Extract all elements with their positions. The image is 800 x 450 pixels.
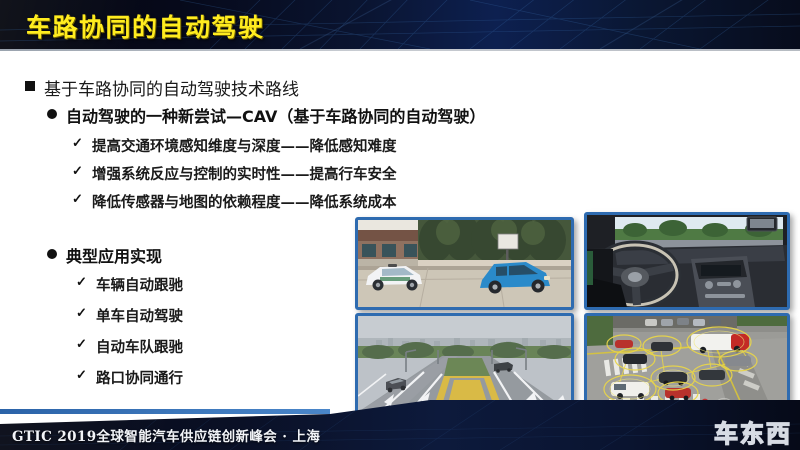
outline-level1-item: 基于车路协同的自动驾驶技术路线	[25, 75, 299, 100]
outline-level3-label: 路口协同通行	[96, 367, 183, 388]
outline-level1-label: 基于车路协同的自动驾驶技术路线	[44, 75, 299, 100]
outline-level2-label: 自动驾驶的一种新尝试—CAV（基于车路协同的自动驾驶）	[66, 103, 485, 127]
photo-intersection-v2x	[584, 313, 790, 415]
outline-level3-item: ✓ 自动车队跟驰	[76, 336, 183, 357]
circle-bullet-icon	[47, 249, 57, 259]
outline-level2-item-cav: 自动驾驶的一种新尝试—CAV（基于车路协同的自动驾驶）	[47, 103, 485, 127]
check-bullet-icon: ✓	[76, 306, 88, 321]
slide-root: 车路协同的自动驾驶 基于车路协同的自动驾驶技术路线 自动驾驶的一种新尝试—CAV…	[0, 0, 800, 450]
check-bullet-icon: ✓	[76, 275, 88, 290]
photo-car-interior-dashboard	[584, 212, 790, 310]
outline-level3-item: ✓ 车辆自动跟驰	[76, 274, 183, 295]
outline-level3-label: 单车自动驾驶	[96, 305, 183, 326]
circle-bullet-icon	[47, 109, 57, 119]
check-bullet-icon: ✓	[72, 164, 84, 179]
outline-level3-item: ✓ 增强系统反应与控制的实时性——提高行车安全	[72, 163, 397, 184]
outline-level3-item: ✓ 单车自动驾驶	[76, 305, 183, 326]
outline-level3-label: 增强系统反应与控制的实时性——提高行车安全	[92, 163, 397, 184]
check-bullet-icon: ✓	[72, 192, 84, 207]
outline-level3-label: 降低传感器与地图的依赖程度——降低系统成本	[92, 191, 397, 212]
outline-level3-label: 车辆自动跟驰	[96, 274, 183, 295]
check-bullet-icon: ✓	[76, 368, 88, 383]
photo-parking-lot-two-cars	[355, 217, 574, 310]
outline-level3-item: ✓ 提高交通环境感知维度与深度——降低感知难度	[72, 135, 397, 156]
header-divider	[0, 49, 800, 51]
footer-event-title: GTIC 2019全球智能汽车供应链创新峰会 · 上海	[12, 425, 320, 445]
page-title: 车路协同的自动驾驶	[26, 8, 265, 44]
photo-highway-aerial	[355, 313, 574, 415]
slide-header: 车路协同的自动驾驶	[0, 0, 800, 49]
chedongxi-logo: 车东西	[714, 414, 792, 449]
outline-level3-label: 提高交通环境感知维度与深度——降低感知难度	[92, 135, 397, 156]
square-bullet-icon	[25, 81, 35, 91]
outline-level3-label: 自动车队跟驰	[96, 336, 183, 357]
outline-level2-item-applications: 典型应用实现	[47, 243, 162, 267]
outline-level3-item: ✓ 降低传感器与地图的依赖程度——降低系统成本	[72, 191, 397, 212]
outline-content: 基于车路协同的自动驾驶技术路线 自动驾驶的一种新尝试—CAV（基于车路协同的自动…	[0, 55, 352, 405]
check-bullet-icon: ✓	[76, 337, 88, 352]
check-bullet-icon: ✓	[72, 136, 84, 151]
footer-accent-bar	[0, 409, 330, 414]
outline-level2-label: 典型应用实现	[66, 243, 162, 267]
outline-level3-item: ✓ 路口协同通行	[76, 367, 183, 388]
